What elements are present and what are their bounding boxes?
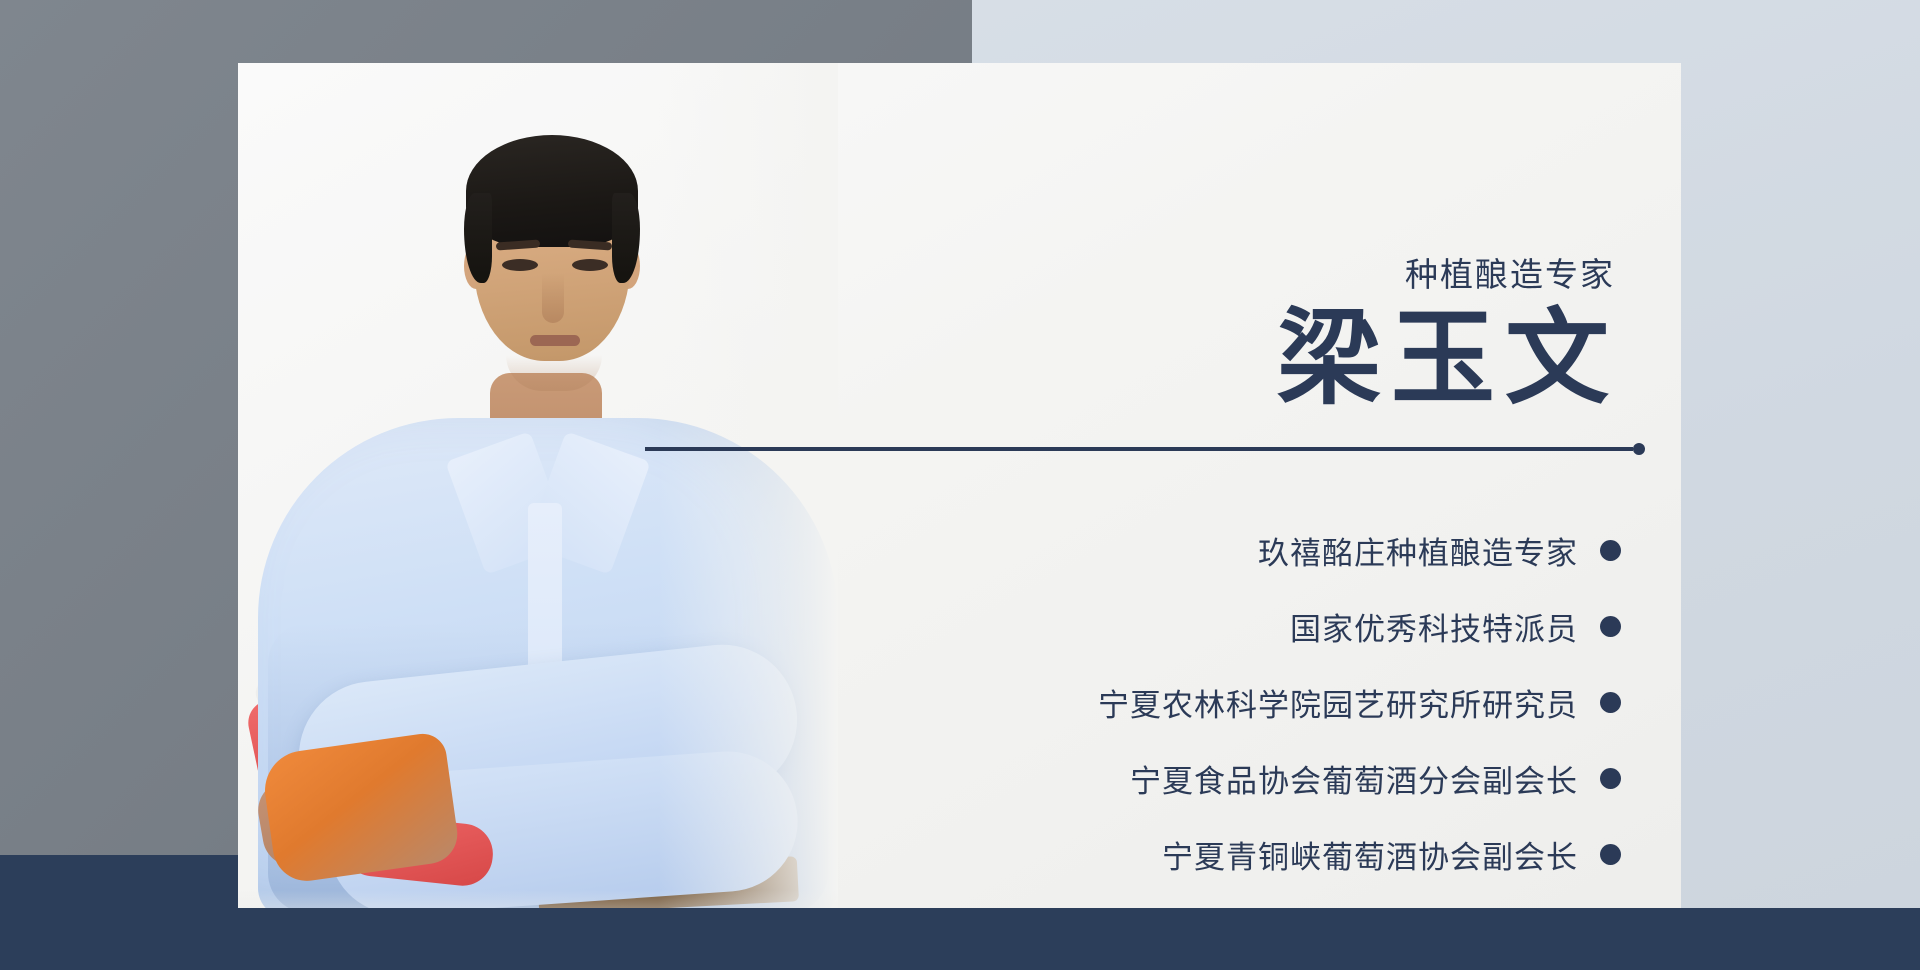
credential-text: 宁夏青铜峡葡萄酒协会副会长 bbox=[1162, 832, 1578, 877]
divider-line bbox=[645, 447, 1633, 451]
portrait-photo bbox=[238, 63, 838, 908]
credentials-list: 玖禧酩庄种植酿造专家 国家优秀科技特派员 宁夏农林科学院园艺研究所研究员 宁夏食… bbox=[1098, 528, 1621, 877]
bullet-dot-icon bbox=[1600, 616, 1621, 637]
portrait-eye-right bbox=[572, 259, 608, 271]
portrait-bottom-fade bbox=[238, 848, 838, 908]
bullet-dot-icon bbox=[1600, 844, 1621, 865]
list-item: 玖禧酩庄种植酿造专家 bbox=[1098, 528, 1621, 573]
list-item: 宁夏青铜峡葡萄酒协会副会长 bbox=[1098, 832, 1621, 877]
background-block-navy-right bbox=[972, 908, 1920, 970]
person-name: 梁玉文 bbox=[1277, 303, 1619, 417]
portrait-mouth bbox=[530, 335, 580, 346]
bullet-dot-icon bbox=[1600, 768, 1621, 789]
divider-rule bbox=[645, 441, 1645, 457]
portrait-eye-left bbox=[502, 259, 538, 271]
profile-card: 种植酿造专家 梁玉文 玖禧酩庄种植酿造专家 国家优秀科技特派员 宁夏农林科学院园… bbox=[238, 63, 1681, 908]
profile-banner: 种植酿造专家 梁玉文 玖禧酩庄种植酿造专家 国家优秀科技特派员 宁夏农林科学院园… bbox=[0, 0, 1920, 970]
divider-end-dot-icon bbox=[1633, 443, 1645, 455]
credential-text: 宁夏农林科学院园艺研究所研究员 bbox=[1098, 680, 1578, 725]
credential-text: 宁夏食品协会葡萄酒分会副会长 bbox=[1130, 756, 1578, 801]
list-item: 宁夏农林科学院园艺研究所研究员 bbox=[1098, 680, 1621, 725]
role-subtitle: 种植酿造专家 bbox=[1405, 248, 1615, 296]
credential-text: 玖禧酩庄种植酿造专家 bbox=[1258, 528, 1578, 573]
bullet-dot-icon bbox=[1600, 540, 1621, 561]
bullet-dot-icon bbox=[1600, 692, 1621, 713]
list-item: 国家优秀科技特派员 bbox=[1098, 604, 1621, 649]
credential-text: 国家优秀科技特派员 bbox=[1290, 604, 1578, 649]
portrait-edge-fade bbox=[658, 63, 838, 908]
portrait-nose bbox=[542, 273, 564, 323]
list-item: 宁夏食品协会葡萄酒分会副会长 bbox=[1098, 756, 1621, 801]
